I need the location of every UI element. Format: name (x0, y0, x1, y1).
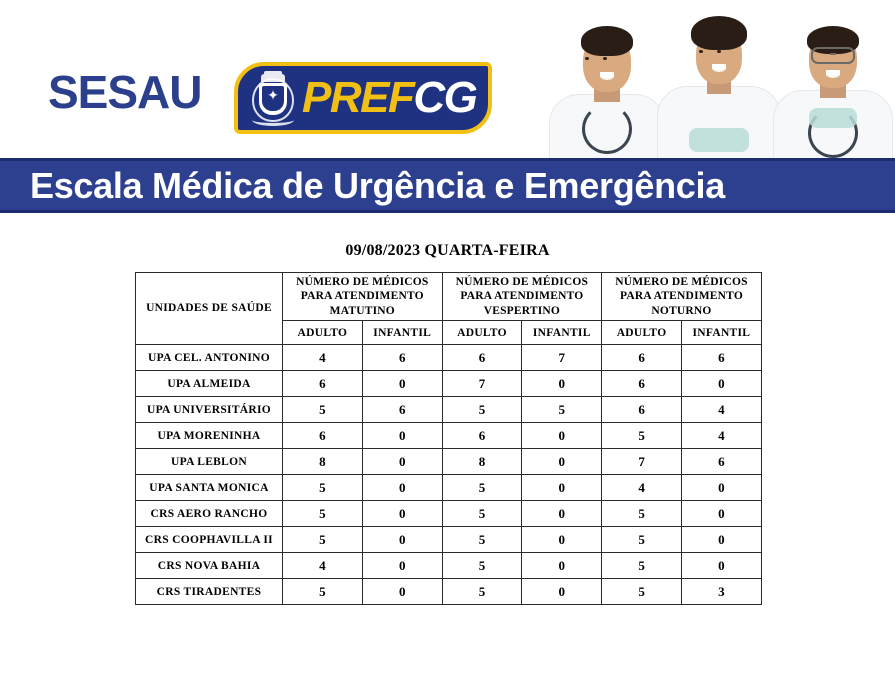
cell-unit-name: UPA SANTA MONICA (136, 475, 283, 501)
cell-count: 6 (283, 423, 363, 449)
cell-count: 6 (442, 423, 522, 449)
cell-count: 6 (681, 449, 761, 475)
shift-line-1: NÚMERO DE MÉDICOS (456, 276, 588, 288)
shift-line-1: NÚMERO DE MÉDICOS (296, 276, 428, 288)
page-title-bar: Escala Médica de Urgência e Emergência (0, 158, 895, 213)
cell-count: 6 (602, 345, 682, 371)
cell-unit-name: CRS AERO RANCHO (136, 501, 283, 527)
table-header-row-shifts: UNIDADES DE SAÚDE NÚMERO DE MÉDICOS PARA… (136, 273, 762, 321)
cell-count: 6 (681, 345, 761, 371)
sub-header-matutino-adulto: ADULTO (283, 321, 363, 345)
shift-line-2: PARA ATENDIMENTO (460, 290, 583, 302)
shift-line-3: NOTURNO (651, 305, 711, 317)
cell-count: 6 (442, 345, 522, 371)
cell-count: 0 (362, 527, 442, 553)
cell-count: 0 (681, 475, 761, 501)
cell-count: 0 (362, 371, 442, 397)
cell-count: 0 (681, 371, 761, 397)
cell-count: 0 (681, 527, 761, 553)
doctor-figure-right (771, 16, 895, 158)
shift-line-2: PARA ATENDIMENTO (620, 290, 743, 302)
cell-unit-name: UPA CEL. ANTONINO (136, 345, 283, 371)
cell-count: 0 (522, 423, 602, 449)
cell-count: 5 (283, 475, 363, 501)
column-header-shift-matutino: NÚMERO DE MÉDICOS PARA ATENDIMENTO MATUT… (283, 273, 443, 321)
eyeglasses-icon (811, 47, 855, 64)
eye-right (717, 50, 721, 53)
cell-count: 0 (362, 423, 442, 449)
cell-count: 0 (362, 579, 442, 605)
doctor-figure-center (655, 8, 783, 158)
cell-count: 4 (283, 553, 363, 579)
main-content: 09/08/2023 QUARTA-FEIRA UNIDADES DE SAÚD… (0, 213, 895, 674)
table-row: UPA SANTA MONICA505040 (136, 475, 762, 501)
cell-count: 0 (522, 475, 602, 501)
cell-count: 4 (681, 423, 761, 449)
cell-count: 0 (362, 553, 442, 579)
hair (691, 16, 747, 50)
cell-count: 0 (681, 501, 761, 527)
table-row: CRS NOVA BAHIA405050 (136, 553, 762, 579)
table-row: UPA LEBLON808076 (136, 449, 762, 475)
coat-of-arms-crown (261, 74, 285, 82)
cell-count: 5 (602, 553, 682, 579)
cell-unit-name: CRS NOVA BAHIA (136, 553, 283, 579)
sub-header-noturno-adulto: ADULTO (602, 321, 682, 345)
coat-of-arms-banner (252, 114, 294, 126)
cell-count: 5 (442, 397, 522, 423)
sub-header-vespertino-infantil: INFANTIL (522, 321, 602, 345)
hair (581, 26, 633, 56)
table-row: UPA ALMEIDA607060 (136, 371, 762, 397)
cell-count: 6 (283, 371, 363, 397)
campo-grande-coat-of-arms-icon: ✦ (250, 70, 296, 126)
cell-count: 5 (283, 397, 363, 423)
column-header-shift-noturno: NÚMERO DE MÉDICOS PARA ATENDIMENTO NOTUR… (602, 273, 762, 321)
cell-count: 6 (602, 371, 682, 397)
cell-unit-name: CRS TIRADENTES (136, 579, 283, 605)
sub-header-matutino-infantil: INFANTIL (362, 321, 442, 345)
doctor-figure-left (547, 14, 667, 158)
shift-line-3: VESPERTINO (484, 305, 560, 317)
cell-count: 5 (602, 423, 682, 449)
cell-count: 0 (362, 475, 442, 501)
cell-count: 0 (522, 371, 602, 397)
surgical-mask-icon (809, 108, 857, 128)
table-body: UPA CEL. ANTONINO466766UPA ALMEIDA607060… (136, 345, 762, 605)
eye-right (603, 57, 607, 60)
shift-line-1: NÚMERO DE MÉDICOS (615, 276, 747, 288)
cell-count: 3 (681, 579, 761, 605)
smile (826, 70, 840, 78)
table-row: CRS COOPHAVILLA II505050 (136, 527, 762, 553)
cell-count: 0 (522, 553, 602, 579)
coat-of-arms-bird-icon: ✦ (265, 90, 281, 104)
cell-count: 5 (442, 501, 522, 527)
cell-count: 0 (522, 501, 602, 527)
smile (600, 72, 614, 80)
prefcg-prefix-text: PREF (302, 73, 413, 122)
cell-count: 7 (602, 449, 682, 475)
cell-unit-name: CRS COOPHAVILLA II (136, 527, 283, 553)
cell-count: 0 (522, 449, 602, 475)
cell-count: 5 (283, 579, 363, 605)
sub-header-vespertino-adulto: ADULTO (442, 321, 522, 345)
cell-count: 4 (681, 397, 761, 423)
sesau-logo-wordmark: SESAU (48, 69, 201, 115)
cell-count: 5 (522, 397, 602, 423)
surgical-mask-icon (689, 128, 749, 152)
table-row: CRS AERO RANCHO505050 (136, 501, 762, 527)
prefcg-suffix-text: CG (413, 73, 476, 122)
cell-count: 5 (442, 475, 522, 501)
cell-count: 7 (522, 345, 602, 371)
table-row: UPA MORENINHA606054 (136, 423, 762, 449)
table-row: CRS TIRADENTES505053 (136, 579, 762, 605)
cell-count: 5 (442, 579, 522, 605)
shift-line-3: MATUTINO (330, 305, 395, 317)
sub-header-noturno-infantil: INFANTIL (681, 321, 761, 345)
cell-count: 5 (602, 501, 682, 527)
cell-count: 6 (362, 397, 442, 423)
cell-count: 6 (602, 397, 682, 423)
cell-count: 6 (362, 345, 442, 371)
cell-count: 0 (362, 501, 442, 527)
cell-count: 4 (283, 345, 363, 371)
page-header: SESAU ✦ PREFCG (0, 0, 895, 158)
cell-count: 8 (283, 449, 363, 475)
cell-count: 0 (522, 527, 602, 553)
table-head: UNIDADES DE SAÚDE NÚMERO DE MÉDICOS PARA… (136, 273, 762, 345)
cell-count: 0 (522, 579, 602, 605)
cell-count: 5 (602, 579, 682, 605)
cell-count: 8 (442, 449, 522, 475)
table-row: UPA CEL. ANTONINO466766 (136, 345, 762, 371)
cell-count: 5 (283, 501, 363, 527)
cell-count: 0 (681, 553, 761, 579)
cell-unit-name: UPA UNIVERSITÁRIO (136, 397, 283, 423)
cell-count: 0 (362, 449, 442, 475)
column-header-shift-vespertino: NÚMERO DE MÉDICOS PARA ATENDIMENTO VESPE… (442, 273, 602, 321)
cell-unit-name: UPA LEBLON (136, 449, 283, 475)
column-header-units: UNIDADES DE SAÚDE (136, 273, 283, 345)
cell-unit-name: UPA ALMEIDA (136, 371, 283, 397)
eye-left (699, 50, 703, 53)
shift-line-2: PARA ATENDIMENTO (301, 290, 424, 302)
stethoscope-icon (582, 104, 632, 154)
eye-left (585, 57, 589, 60)
page-title: Escala Médica de Urgência e Emergência (30, 168, 725, 204)
cell-count: 5 (283, 527, 363, 553)
cell-unit-name: UPA MORENINHA (136, 423, 283, 449)
three-doctors-photo (533, 0, 895, 158)
medical-schedule-table: UNIDADES DE SAÚDE NÚMERO DE MÉDICOS PARA… (135, 272, 762, 605)
cell-count: 5 (442, 527, 522, 553)
prefcg-logo-badge: ✦ PREFCG (234, 62, 492, 134)
table-row: UPA UNIVERSITÁRIO565564 (136, 397, 762, 423)
cell-count: 5 (602, 527, 682, 553)
cell-count: 5 (442, 553, 522, 579)
cell-count: 4 (602, 475, 682, 501)
schedule-date-label: 09/08/2023 QUARTA-FEIRA (0, 242, 895, 260)
prefcg-wordmark: PREFCG (302, 76, 476, 120)
smile (712, 64, 726, 72)
cell-count: 7 (442, 371, 522, 397)
